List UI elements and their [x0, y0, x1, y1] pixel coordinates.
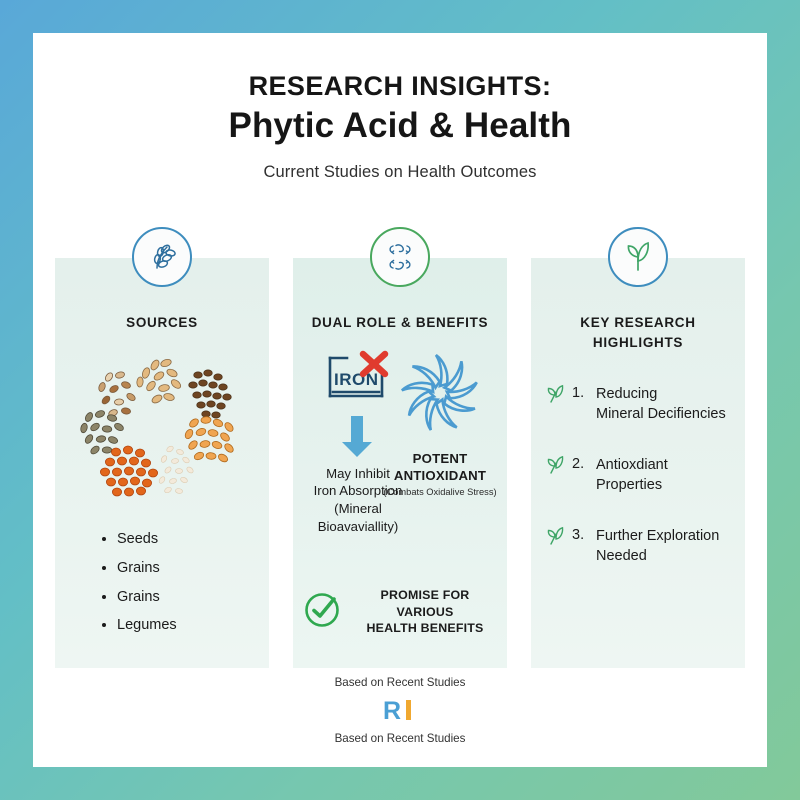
page-title-line1: RESEARCH INSIGHTS:: [33, 71, 767, 103]
seed-piles-illustration: [55, 349, 269, 499]
columns-container: SOURCES: [55, 258, 745, 668]
highlight-number: 3.: [572, 526, 589, 543]
highlight-number: 1.: [572, 384, 589, 401]
sources-list: Seeds Grains Grains Legumes: [103, 525, 177, 640]
footer-bottom-line: Based on Recent Studies: [33, 732, 767, 745]
highlight-number: 2.: [572, 455, 589, 472]
highlights-list: 1. ReducingMineral Decifiencies: [531, 384, 745, 566]
leaf-bullet-icon: [545, 526, 565, 551]
footer-top-line: Based on Recent Studies: [33, 676, 767, 689]
column-title-highlights: KEY RESEARCHHIGHLIGHTS: [531, 313, 745, 352]
column-title-dual-role: DUAL ROLE & BENEFITS: [293, 313, 507, 333]
antioxidant-burst-icon: [375, 347, 505, 444]
antioxidant-subtitle: (Combats Oxidalive Stress): [375, 487, 505, 497]
cycle-arrows-icon: [370, 227, 430, 287]
list-item: Legumes: [117, 611, 177, 640]
infographic-card: RESEARCH INSIGHTS: Phytic Acid & Health …: [33, 33, 767, 767]
list-item: Grains: [117, 554, 177, 583]
column-title-sources: SOURCES: [55, 313, 269, 333]
leaf-bullet-icon: [545, 384, 565, 409]
ri-logo: R: [33, 698, 767, 724]
check-circle-icon: [303, 591, 341, 634]
list-item: Grains: [117, 583, 177, 612]
page-title-line2: Phytic Acid & Health: [33, 105, 767, 147]
highlight-text: ReducingMineral Decifiencies: [596, 384, 726, 424]
promise-block: PROMISE FOR VARIOUSHEALTH BENEFITS: [303, 587, 499, 636]
column-highlights: KEY RESEARCHHIGHLIGHTS: [531, 258, 745, 668]
promise-text: PROMISE FOR VARIOUSHEALTH BENEFITS: [351, 587, 499, 636]
leaf-bullet-icon: [545, 455, 565, 480]
list-item: 2. AntioxdiantProperties: [545, 455, 729, 495]
header: RESEARCH INSIGHTS: Phytic Acid & Health …: [33, 33, 767, 182]
list-item: 3. Further ExplorationNeeded: [545, 526, 729, 566]
column-sources: SOURCES: [55, 258, 269, 668]
svg-text:R: R: [383, 698, 401, 724]
dual-role-body: IRON May InhibitIron Absorption(Mi: [293, 333, 507, 663]
column-dual-role: DUAL ROLE & BENEFITS: [293, 258, 507, 668]
footer: Based on Recent Studies R Based on Recen…: [33, 676, 767, 745]
antioxidant-block: POTENTANTIOXIDANT (Combats Oxidalive Str…: [375, 347, 505, 497]
svg-text:IRON: IRON: [334, 370, 379, 389]
leaf-icon: [608, 227, 668, 287]
grain-sprig-icon: [132, 227, 192, 287]
gradient-frame: RESEARCH INSIGHTS: Phytic Acid & Health …: [0, 0, 800, 800]
list-item: 1. ReducingMineral Decifiencies: [545, 384, 729, 424]
highlight-text: AntioxdiantProperties: [596, 455, 668, 495]
antioxidant-title: POTENTANTIOXIDANT: [375, 450, 505, 484]
page-subtitle: Current Studies on Health Outcomes: [33, 163, 767, 182]
list-item: Seeds: [117, 525, 177, 554]
highlight-text: Further ExplorationNeeded: [596, 526, 719, 566]
